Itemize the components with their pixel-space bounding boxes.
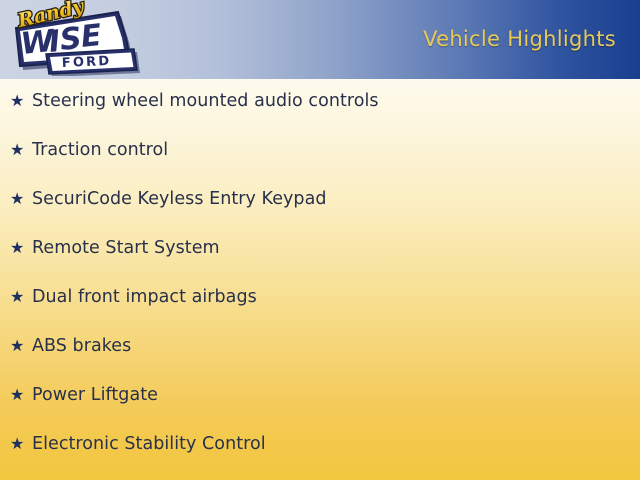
star-bullet-icon: ★ [10, 191, 32, 207]
list-item-label: SecuriCode Keyless Entry Keypad [32, 191, 640, 209]
svg-text:E: E [79, 18, 104, 55]
list-item-label: Power Liftgate [32, 387, 640, 405]
star-bullet-icon: ★ [10, 142, 32, 158]
list-item: ★ Electronic Stability Control [0, 436, 640, 480]
list-item-label: Steering wheel mounted audio controls [32, 93, 640, 111]
list-item: ★ ABS brakes [0, 338, 640, 387]
list-item-label: Remote Start System [32, 240, 640, 258]
page-header: W I S E FORD Randy Randy Vehicle Highlig… [0, 0, 640, 79]
star-bullet-icon: ★ [10, 387, 32, 403]
list-item-label: ABS brakes [32, 338, 640, 356]
star-bullet-icon: ★ [10, 436, 32, 452]
list-item-label: Electronic Stability Control [32, 436, 640, 454]
list-item: ★ Steering wheel mounted audio controls [0, 93, 640, 142]
star-bullet-icon: ★ [10, 93, 32, 109]
page-title: Vehicle Highlights [423, 27, 616, 51]
list-item-label: Traction control [32, 142, 640, 160]
star-bullet-icon: ★ [10, 240, 32, 256]
list-item: ★ Dual front impact airbags [0, 289, 640, 338]
svg-text:FORD: FORD [62, 54, 112, 71]
star-bullet-icon: ★ [10, 338, 32, 354]
star-bullet-icon: ★ [10, 289, 32, 305]
list-item-label: Dual front impact airbags [32, 289, 640, 307]
vehicle-highlights-page: W I S E FORD Randy Randy Vehicle Highlig… [0, 0, 640, 480]
randy-wise-ford-logo: W I S E FORD Randy Randy [6, 0, 142, 76]
vehicle-highlights-list: ★ Steering wheel mounted audio controls … [0, 79, 640, 480]
list-item: ★ Power Liftgate [0, 387, 640, 436]
list-item: ★ SecuriCode Keyless Entry Keypad [0, 191, 640, 240]
list-item: ★ Traction control [0, 142, 640, 191]
list-item: ★ Remote Start System [0, 240, 640, 289]
